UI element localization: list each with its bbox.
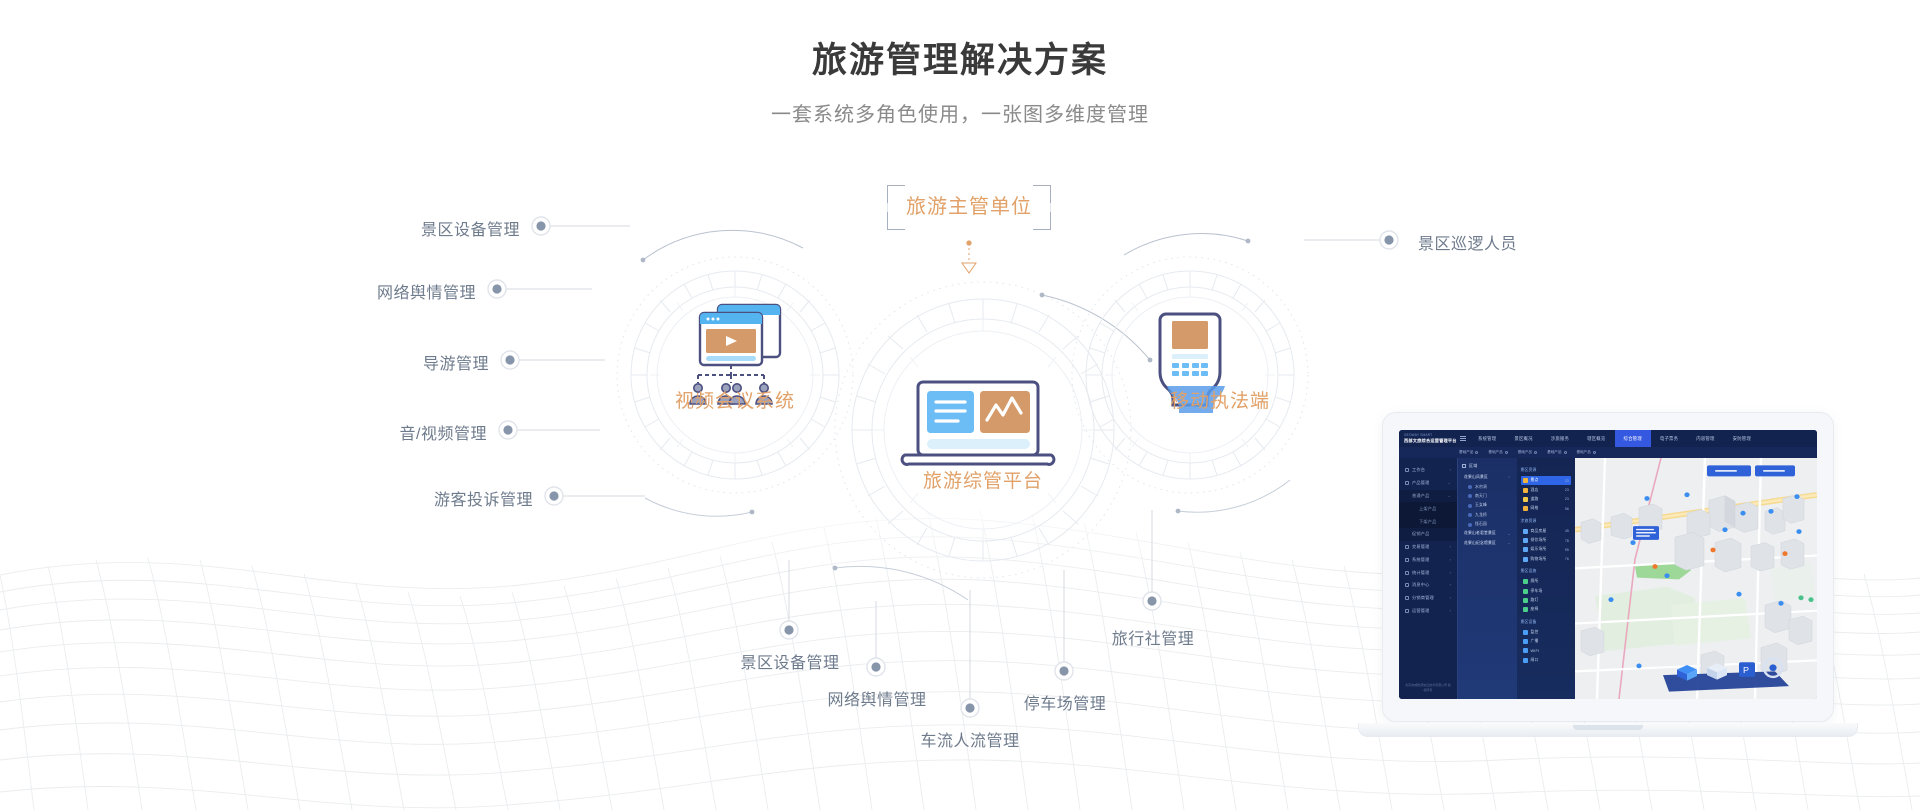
- module-icon: [1405, 571, 1409, 575]
- sidebar-item-10[interactable]: 分销商管理 ›: [1399, 592, 1457, 605]
- chevron-down-icon: ⌄: [1448, 481, 1451, 485]
- node-label-mobile: 移动执法端: [1110, 386, 1330, 413]
- layer-row-3-3-label: 闸口: [1531, 658, 1539, 663]
- panel-region-head: 区域: [1462, 463, 1513, 469]
- sidebar-item-6[interactable]: 交易管理 ›: [1399, 541, 1457, 554]
- spoke-label-left-3: 导游管理: [269, 350, 489, 374]
- module-icon: [1405, 609, 1409, 613]
- layer-row-1-0[interactable]: 商品房屋 45: [1521, 527, 1572, 536]
- layer-row-3-1[interactable]: 广播: [1521, 637, 1572, 646]
- sidebar-item-3-label: 上架产品: [1419, 506, 1437, 512]
- layer-row-0-1-count: 23: [1565, 488, 1569, 492]
- region-row-5[interactable]: 怪石园: [1462, 520, 1513, 529]
- app-tab-0-label: 基础产品: [1459, 450, 1473, 455]
- spoke-label-bottom-5: 旅行社管理: [1093, 625, 1213, 649]
- layer-row-2-2[interactable]: 路灯: [1521, 596, 1572, 605]
- region-row-0-label: 花果山风景区: [1464, 475, 1488, 480]
- chevron-right-icon: ›: [1450, 583, 1451, 587]
- layer-row-0-0-label: 景点: [1531, 478, 1539, 483]
- layer-group-2-title: 景区设施: [1521, 569, 1572, 574]
- layer-row-1-2[interactable]: 娱乐场所 95: [1521, 545, 1572, 554]
- layer-row-2-3[interactable]: 座椅: [1521, 605, 1572, 614]
- layer-row-1-3[interactable]: 购物场所 76: [1521, 555, 1572, 564]
- region-row-3[interactable]: 玉女峰: [1462, 501, 1513, 510]
- layer-icon: [1523, 497, 1528, 502]
- panel-region-head-label: 区域: [1469, 463, 1477, 469]
- laptop-screen: GEOWAY SMART 西部文旅综合运营管理平台 系统管理 景区概况 涉旅服务…: [1399, 430, 1817, 699]
- layer-row-0-2-label: 道路: [1531, 497, 1539, 502]
- governing-unit-box[interactable]: 旅游主管单位: [887, 185, 1051, 230]
- sidebar-item-11-label: 运营管理: [1412, 608, 1430, 614]
- panel-region-column: 区域 花果山风景区 ⌃ 水帘洞: [1458, 458, 1517, 699]
- spoke-label-left-2: 网络舆情管理: [256, 279, 476, 303]
- layer-icon: [1523, 579, 1528, 584]
- layer-icon: [1523, 598, 1528, 603]
- layer-icon: [1523, 529, 1528, 534]
- layer-row-1-0-count: 45: [1565, 529, 1569, 533]
- app-tab-3-label: 基础产品: [1547, 450, 1561, 455]
- panel-layer-column: 景区资源 景点 23 酒店 23: [1517, 458, 1576, 699]
- sidebar-item-3[interactable]: 上架产品: [1399, 502, 1457, 515]
- layer-row-3-1-label: 广播: [1531, 639, 1539, 644]
- layer-group-0-title: 景区资源: [1521, 468, 1572, 473]
- layer-row-2-2-label: 路灯: [1531, 598, 1539, 603]
- layer-row-0-2-count: 23: [1565, 497, 1569, 501]
- module-icon: [1405, 583, 1409, 587]
- layer-icon: [1523, 488, 1528, 493]
- layer-icon: [1523, 630, 1528, 635]
- layer-icon: [1523, 607, 1528, 612]
- sidebar-item-4[interactable]: 下架产品: [1399, 515, 1457, 528]
- nav-item-5[interactable]: 电子票务: [1651, 430, 1687, 447]
- sidebar-item-8[interactable]: 统计管理 ›: [1399, 566, 1457, 579]
- svg-text:P: P: [1743, 666, 1749, 676]
- app-tab-4[interactable]: 基础产品: [1577, 450, 1596, 455]
- layer-icon: [1523, 589, 1528, 594]
- sidebar-item-8-label: 统计管理: [1412, 570, 1430, 576]
- app-map[interactable]: P: [1575, 458, 1817, 699]
- gov-connector-arrow: [962, 240, 976, 273]
- chevron-down-icon: ⌄: [1507, 532, 1510, 536]
- app-layer-panel: 区域 花果山风景区 ⌃ 水帘洞: [1457, 458, 1575, 699]
- spoke-label-right-1: 景区巡逻人员: [1418, 230, 1517, 254]
- chevron-right-icon: ›: [1450, 468, 1451, 472]
- chevron-right-icon: ›: [1450, 571, 1451, 575]
- close-icon[interactable]: [1475, 451, 1478, 454]
- region-row-2-label: 南天门: [1475, 494, 1487, 499]
- layer-row-1-1[interactable]: 餐饮场所 78: [1521, 536, 1572, 545]
- app-nav: 系统管理 景区概况 涉旅服务 辖区概览 综合管理 电子票务 内容管理 安防管理: [1469, 430, 1817, 447]
- sidebar-item-11[interactable]: 运营管理 ›: [1399, 605, 1457, 618]
- nav-item-0[interactable]: 系统管理: [1469, 430, 1505, 447]
- node-label-video: 视频会议系统: [625, 386, 845, 413]
- governing-unit-label: 旅游主管单位: [887, 185, 1051, 230]
- region-row-3-label: 玉女峰: [1475, 503, 1487, 508]
- sidebar-item-6-label: 交易管理: [1412, 544, 1430, 550]
- laptop-dashboard-icon: [902, 382, 1054, 464]
- layer-row-0-2[interactable]: 道路 23: [1521, 495, 1572, 504]
- layer-row-3-2[interactable]: WIFI: [1521, 646, 1572, 655]
- layer-row-2-3-label: 座椅: [1531, 607, 1539, 612]
- app-tab-1[interactable]: 基础产品: [1488, 450, 1507, 455]
- layer-row-0-0-count: 23: [1565, 479, 1569, 483]
- region-row-1-label: 水帘洞: [1475, 485, 1487, 490]
- app-tab-0[interactable]: 基础产品: [1459, 450, 1478, 455]
- region-row-2[interactable]: 南天门: [1462, 492, 1513, 501]
- layer-group-3-title: 景区设备: [1521, 620, 1572, 625]
- layer-row-3-2-label: WIFI: [1531, 649, 1540, 653]
- layer-icon: [1523, 506, 1528, 511]
- module-icon: [1405, 558, 1409, 562]
- layer-row-0-3-count: 56: [1565, 507, 1569, 511]
- layer-row-1-3-count: 76: [1565, 557, 1569, 561]
- app-tab-2[interactable]: 基础产品: [1518, 450, 1537, 455]
- layer-row-1-0-label: 商品房屋: [1531, 529, 1547, 534]
- layer-row-0-1-label: 酒店: [1531, 488, 1539, 493]
- chevron-up-icon: ⌃: [1507, 476, 1510, 480]
- module-icon: [1405, 481, 1409, 485]
- laptop-lid: GEOWAY SMART 西部文旅综合运营管理平台 系统管理 景区概况 涉旅服务…: [1382, 412, 1834, 722]
- nav-item-2[interactable]: 涉旅服务: [1542, 430, 1578, 447]
- spoke-label-bottom-2: 网络舆情管理: [817, 686, 937, 710]
- layer-row-0-3[interactable]: 网格 56: [1521, 504, 1572, 513]
- region-row-6-label: 花果山老君堂景区: [1464, 531, 1496, 536]
- region-row-7-label: 花果山纪念馆景区: [1464, 541, 1496, 546]
- app-tab-3[interactable]: 基础产品: [1547, 450, 1566, 455]
- sidebar-item-5-label: 促销产品: [1412, 531, 1430, 537]
- layer-icon: [1523, 478, 1528, 483]
- sidebar-item-10-label: 分销商管理: [1412, 595, 1434, 601]
- sidebar-item-2-label: 普通产品: [1412, 493, 1430, 499]
- layer-row-0-1[interactable]: 酒店 23: [1521, 485, 1572, 494]
- app-sidebar: 工作台 › 产品管理 ⌄ 普通产品 ⌄ 上架产: [1399, 458, 1457, 699]
- spoke-label-left-1: 景区设备管理: [300, 216, 520, 240]
- layer-row-1-3-label: 购物场所: [1531, 557, 1547, 562]
- spoke-label-bottom-3: 车流人流管理: [910, 727, 1030, 751]
- app-tab-1-label: 基础产品: [1488, 450, 1502, 455]
- sidebar-item-4-label: 下架产品: [1419, 519, 1437, 525]
- module-icon: [1405, 596, 1409, 600]
- node-label-center: 旅游综管平台: [858, 466, 1108, 493]
- chevron-down-icon: ⌄: [1507, 541, 1510, 545]
- app-logo-line2: 西部文旅综合运营管理平台: [1404, 438, 1457, 444]
- layer-icon: [1523, 547, 1528, 552]
- spoke-label-bottom-1: 景区设备管理: [730, 649, 850, 673]
- layer-row-3-0-label: 监控: [1531, 630, 1539, 635]
- chevron-down-icon: ⌄: [1448, 494, 1451, 498]
- chevron-right-icon: ›: [1450, 596, 1451, 600]
- close-icon[interactable]: [1593, 451, 1596, 454]
- nav-item-6[interactable]: 内容管理: [1687, 430, 1723, 447]
- region-row-5-label: 怪石园: [1475, 522, 1487, 527]
- chevron-right-icon: ›: [1450, 609, 1451, 613]
- marker-icon: [1468, 494, 1472, 498]
- spoke-label-left-5: 游客投诉管理: [313, 486, 533, 510]
- layer-row-3-3[interactable]: 闸口: [1521, 656, 1572, 665]
- layer-row-0-0[interactable]: 景点 23: [1521, 476, 1572, 485]
- layer-row-1-2-label: 娱乐场所: [1531, 547, 1547, 552]
- app-topbar: GEOWAY SMART 西部文旅综合运营管理平台 系统管理 景区概况 涉旅服务…: [1399, 430, 1817, 447]
- layer-icon: [1523, 648, 1528, 653]
- sidebar-item-7[interactable]: 系统管理 ›: [1399, 553, 1457, 566]
- app-tab-4-label: 基础产品: [1577, 450, 1591, 455]
- app-body: 工作台 › 产品管理 ⌄ 普通产品 ⌄ 上架产: [1399, 458, 1817, 699]
- layer-icon: [1523, 538, 1528, 543]
- list-icon: [1462, 464, 1466, 468]
- region-row-7[interactable]: 花果山纪念馆景区 ⌄: [1462, 539, 1513, 548]
- marker-icon: [1468, 513, 1472, 517]
- region-row-4[interactable]: 九龙桥: [1462, 511, 1513, 520]
- spoke-connectors-left: [488, 217, 645, 505]
- sidebar-footer: 北京吉威数源信息技术有限公司 版权所有: [1399, 679, 1457, 699]
- sidebar-item-1[interactable]: 产品管理 ⌄: [1399, 477, 1457, 490]
- layer-row-2-1[interactable]: 停车场: [1521, 586, 1572, 595]
- module-icon: [1405, 468, 1409, 472]
- layer-row-2-1-label: 停车场: [1531, 589, 1543, 594]
- chevron-right-icon: ›: [1450, 558, 1451, 562]
- layer-row-1-2-count: 95: [1565, 548, 1569, 552]
- region-row-1[interactable]: 水帘洞: [1462, 482, 1513, 491]
- layer-row-2-0[interactable]: 厕所: [1521, 577, 1572, 586]
- app-logo: GEOWAY SMART 西部文旅综合运营管理平台: [1399, 430, 1457, 447]
- hamburger-icon[interactable]: [1457, 438, 1469, 439]
- laptop-notch: [1573, 725, 1643, 730]
- layer-row-1-1-count: 78: [1565, 539, 1569, 543]
- nav-item-7[interactable]: 安防管理: [1724, 430, 1760, 447]
- layer-row-3-0[interactable]: 监控: [1521, 628, 1572, 637]
- region-row-4-label: 九龙桥: [1475, 513, 1487, 518]
- layer-icon: [1523, 557, 1528, 562]
- nav-item-4[interactable]: 综合管理: [1615, 430, 1651, 447]
- laptop-mockup: GEOWAY SMART 西部文旅综合运营管理平台 系统管理 景区概况 涉旅服务…: [1358, 412, 1858, 777]
- layer-icon: [1523, 639, 1528, 644]
- chevron-right-icon: ›: [1450, 545, 1451, 549]
- layer-icon: [1523, 658, 1528, 663]
- close-icon[interactable]: [1564, 451, 1567, 454]
- ring-left: [617, 230, 853, 516]
- sidebar-item-9[interactable]: 消息中心 ›: [1399, 579, 1457, 592]
- sidebar-item-7-label: 系统管理: [1412, 557, 1430, 563]
- app-tabbar: 基础产品 基础产品 基础产品 基础产品: [1399, 447, 1817, 458]
- nav-item-3[interactable]: 辖区概览: [1578, 430, 1614, 447]
- close-icon[interactable]: [1505, 451, 1508, 454]
- sidebar-item-0-label: 工作台: [1412, 467, 1425, 473]
- module-icon: [1405, 545, 1409, 549]
- marker-icon: [1468, 523, 1472, 527]
- marker-icon: [1468, 485, 1472, 489]
- layer-group-1-title: 涉旅资源: [1521, 519, 1572, 524]
- spoke-connectors-right: [1304, 231, 1398, 249]
- spoke-label-bottom-4: 停车场管理: [1005, 690, 1125, 714]
- page-root: 旅游管理解决方案 一套系统多角色使用，一张图多维度管理: [0, 0, 1920, 810]
- nav-item-1[interactable]: 景区概况: [1505, 430, 1541, 447]
- spoke-label-left-4: 音/视频管理: [267, 420, 487, 444]
- sidebar-item-5[interactable]: 促销产品: [1399, 528, 1457, 541]
- sidebar-item-0[interactable]: 工作台 ›: [1399, 464, 1457, 477]
- close-icon[interactable]: [1534, 451, 1537, 454]
- region-row-6[interactable]: 花果山老君堂景区 ⌄: [1462, 529, 1513, 538]
- layer-row-1-1-label: 餐饮场所: [1531, 538, 1547, 543]
- marker-icon: [1468, 504, 1472, 508]
- app-tab-2-label: 基础产品: [1518, 450, 1532, 455]
- layer-row-2-0-label: 厕所: [1531, 579, 1539, 584]
- sidebar-item-1-label: 产品管理: [1412, 480, 1430, 486]
- sidebar-item-2[interactable]: 普通产品 ⌄: [1399, 490, 1457, 503]
- sidebar-item-9-label: 消息中心: [1412, 582, 1430, 588]
- region-row-0[interactable]: 花果山风景区 ⌃: [1462, 473, 1513, 482]
- layer-row-0-3-label: 网格: [1531, 506, 1539, 511]
